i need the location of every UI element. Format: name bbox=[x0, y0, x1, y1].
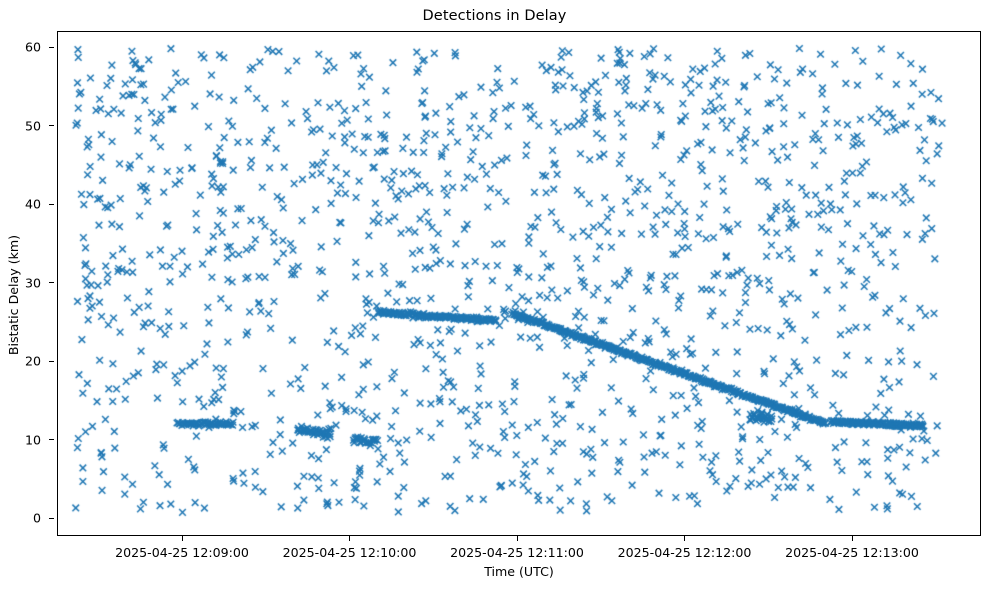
x-axis-label: Time (UTC) bbox=[57, 564, 981, 579]
figure: Detections in Delay Bistatic Delay (km) … bbox=[0, 0, 989, 590]
x-tick-mark bbox=[517, 536, 518, 541]
plot-area[interactable] bbox=[57, 31, 981, 536]
x-tick-mark bbox=[684, 536, 685, 541]
x-tick-mark bbox=[182, 536, 183, 541]
x-tick-label: 2025-04-25 12:12:00 bbox=[618, 545, 752, 560]
x-tick-label: 2025-04-25 12:09:00 bbox=[115, 545, 249, 560]
x-tick-label: 2025-04-25 12:13:00 bbox=[785, 545, 919, 560]
scatter-points-canvas bbox=[58, 32, 981, 536]
x-tick-mark bbox=[349, 536, 350, 541]
x-tick-label: 2025-04-25 12:11:00 bbox=[450, 545, 584, 560]
x-tick-mark bbox=[852, 536, 853, 541]
x-tick-label: 2025-04-25 12:10:00 bbox=[283, 545, 417, 560]
